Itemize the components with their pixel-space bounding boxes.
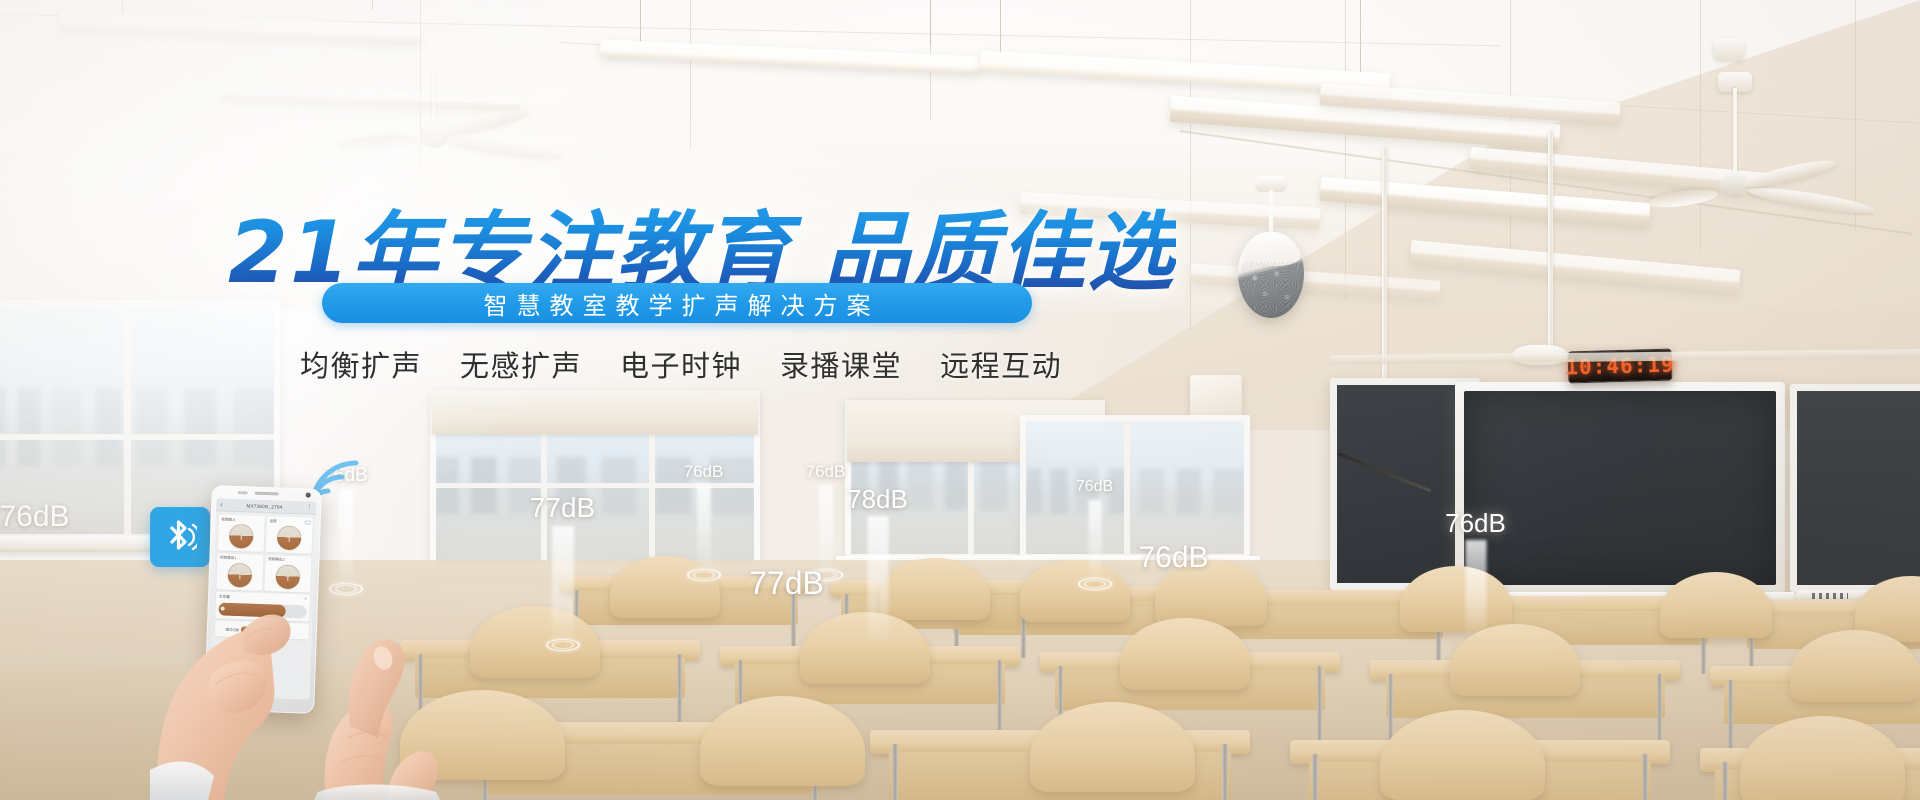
smart-blackboard: [1455, 382, 1785, 594]
sound-ripple: [1084, 580, 1106, 587]
sound-beam: [819, 485, 833, 571]
zone-knob[interactable]: [229, 524, 254, 549]
chair: [880, 558, 990, 620]
volume-slider[interactable]: [218, 602, 306, 618]
sound-level-value: 77dB: [749, 565, 824, 602]
subtitle-pill: 智慧教室教学扩声解决方案: [322, 283, 1032, 323]
app-body: 视频输入 话筒 视频输出1: [210, 511, 316, 699]
zone-label: 视频输出2: [268, 557, 285, 563]
zone-card[interactable]: 话筒: [266, 516, 313, 554]
sound-level-value: 76dB: [0, 500, 70, 534]
zone-knob[interactable]: [277, 525, 302, 550]
phone-earpiece: [255, 492, 279, 496]
chair: [1020, 560, 1130, 622]
volume-card[interactable]: 主音量 +: [215, 591, 310, 621]
zone-label: 视频输出1: [220, 555, 237, 561]
zone-row: 视频输出1 视频输出2: [216, 553, 311, 592]
chair: [1030, 702, 1195, 792]
chair: [1740, 716, 1905, 800]
more-vertical-icon[interactable]: ⋮: [306, 504, 312, 510]
back-icon[interactable]: ‹: [220, 501, 223, 508]
ceiling-groove: [690, 0, 691, 150]
feature-item-3: 录播课堂: [780, 343, 902, 385]
sound-beam: [1088, 500, 1101, 580]
ceiling-mount-dome: [1714, 38, 1744, 60]
sound-level-value: 76dB: [806, 462, 846, 482]
sound-beam: [697, 485, 711, 571]
window-right: [1020, 415, 1250, 560]
mode-toggle-icon: [241, 626, 250, 633]
blackboard-wing-right: [1790, 384, 1920, 592]
zone-knob[interactable]: [227, 562, 252, 587]
volume-slider-handle[interactable]: [221, 607, 225, 611]
chair: [1660, 572, 1772, 638]
sound-level-value: 76dB: [684, 462, 724, 482]
bluetooth-glyph: [163, 518, 197, 556]
feature-list: 均衡扩声无感扩声电子时钟录播课堂远程互动: [300, 343, 1062, 385]
zone-knob[interactable]: [276, 564, 301, 589]
volume-header: 主音量 +: [219, 594, 307, 602]
phone-control-group: ‹ MX7360G_2704 ⋮ 视频输入 话筒: [150, 470, 570, 800]
ceiling-groove: [1855, 0, 1856, 230]
sound-level-value: 76dB: [1445, 508, 1506, 539]
zone-label: 视频输入: [221, 517, 236, 522]
feature-item-4: 远程互动: [940, 343, 1062, 385]
plus-icon[interactable]: +: [304, 597, 307, 602]
mode-button-label: 模式切换: [225, 626, 239, 631]
sound-beam: [1465, 540, 1486, 636]
zone-card[interactable]: 视频输出1: [216, 553, 263, 591]
app-button-row: 模式切换 静音: [215, 620, 310, 639]
phone-screen[interactable]: ‹ MX7360G_2704 ⋮ 视频输入 话筒: [210, 498, 317, 699]
chair: [700, 696, 865, 786]
zone-card[interactable]: 视频输入: [218, 514, 265, 552]
feature-item-2: 电子时钟: [620, 343, 742, 385]
light-wire: [372, 0, 373, 10]
sound-level-value: 76dB: [1138, 541, 1208, 575]
right-hand-pointing: [314, 639, 440, 800]
zone-card[interactable]: 视频输出2: [265, 555, 312, 593]
volume-label: 主音量: [219, 594, 230, 599]
zone-row: 视频输入 话筒: [218, 514, 313, 553]
classroom-hero-banner: 10:46:19: [0, 0, 1920, 800]
subtitle-text: 智慧教室教学扩声解决方案: [475, 286, 880, 321]
chair: [1380, 710, 1545, 800]
window-blind-mid-left: [432, 390, 758, 434]
zone-status-icon: [304, 520, 310, 524]
app-title: MX7360G_2704: [226, 502, 304, 510]
feature-item-1: 无感扩声: [460, 343, 582, 385]
ceiling-groove: [1345, 0, 1346, 300]
bluetooth-icon[interactable]: [150, 507, 210, 567]
mode-button[interactable]: 模式切换: [215, 620, 261, 638]
zone-label: 话筒: [269, 519, 276, 524]
mute-button[interactable]: 静音: [263, 622, 309, 640]
sound-level-value: 78dB: [847, 484, 908, 515]
chair: [1120, 618, 1250, 690]
sound-level-value: 76dB: [1076, 478, 1113, 496]
smartphone[interactable]: ‹ MX7360G_2704 ⋮ 视频输入 话筒: [204, 485, 322, 714]
phone-speaker-slot: [238, 491, 248, 494]
chair: [1400, 566, 1512, 632]
mute-button-label: 静音: [283, 628, 290, 633]
chair: [800, 612, 930, 684]
sound-ripple: [693, 571, 715, 578]
sound-beam: [867, 516, 888, 644]
ceiling-groove: [1700, 0, 1701, 250]
suspension-pole: [1548, 132, 1553, 352]
light-wire: [930, 0, 931, 46]
tray-button-row[interactable]: [1812, 593, 1848, 599]
volume-slider-fill: [218, 602, 285, 617]
feature-item-0: 均衡扩声: [300, 343, 422, 385]
phone-front-camera: [306, 492, 311, 497]
chair: [1790, 630, 1920, 702]
